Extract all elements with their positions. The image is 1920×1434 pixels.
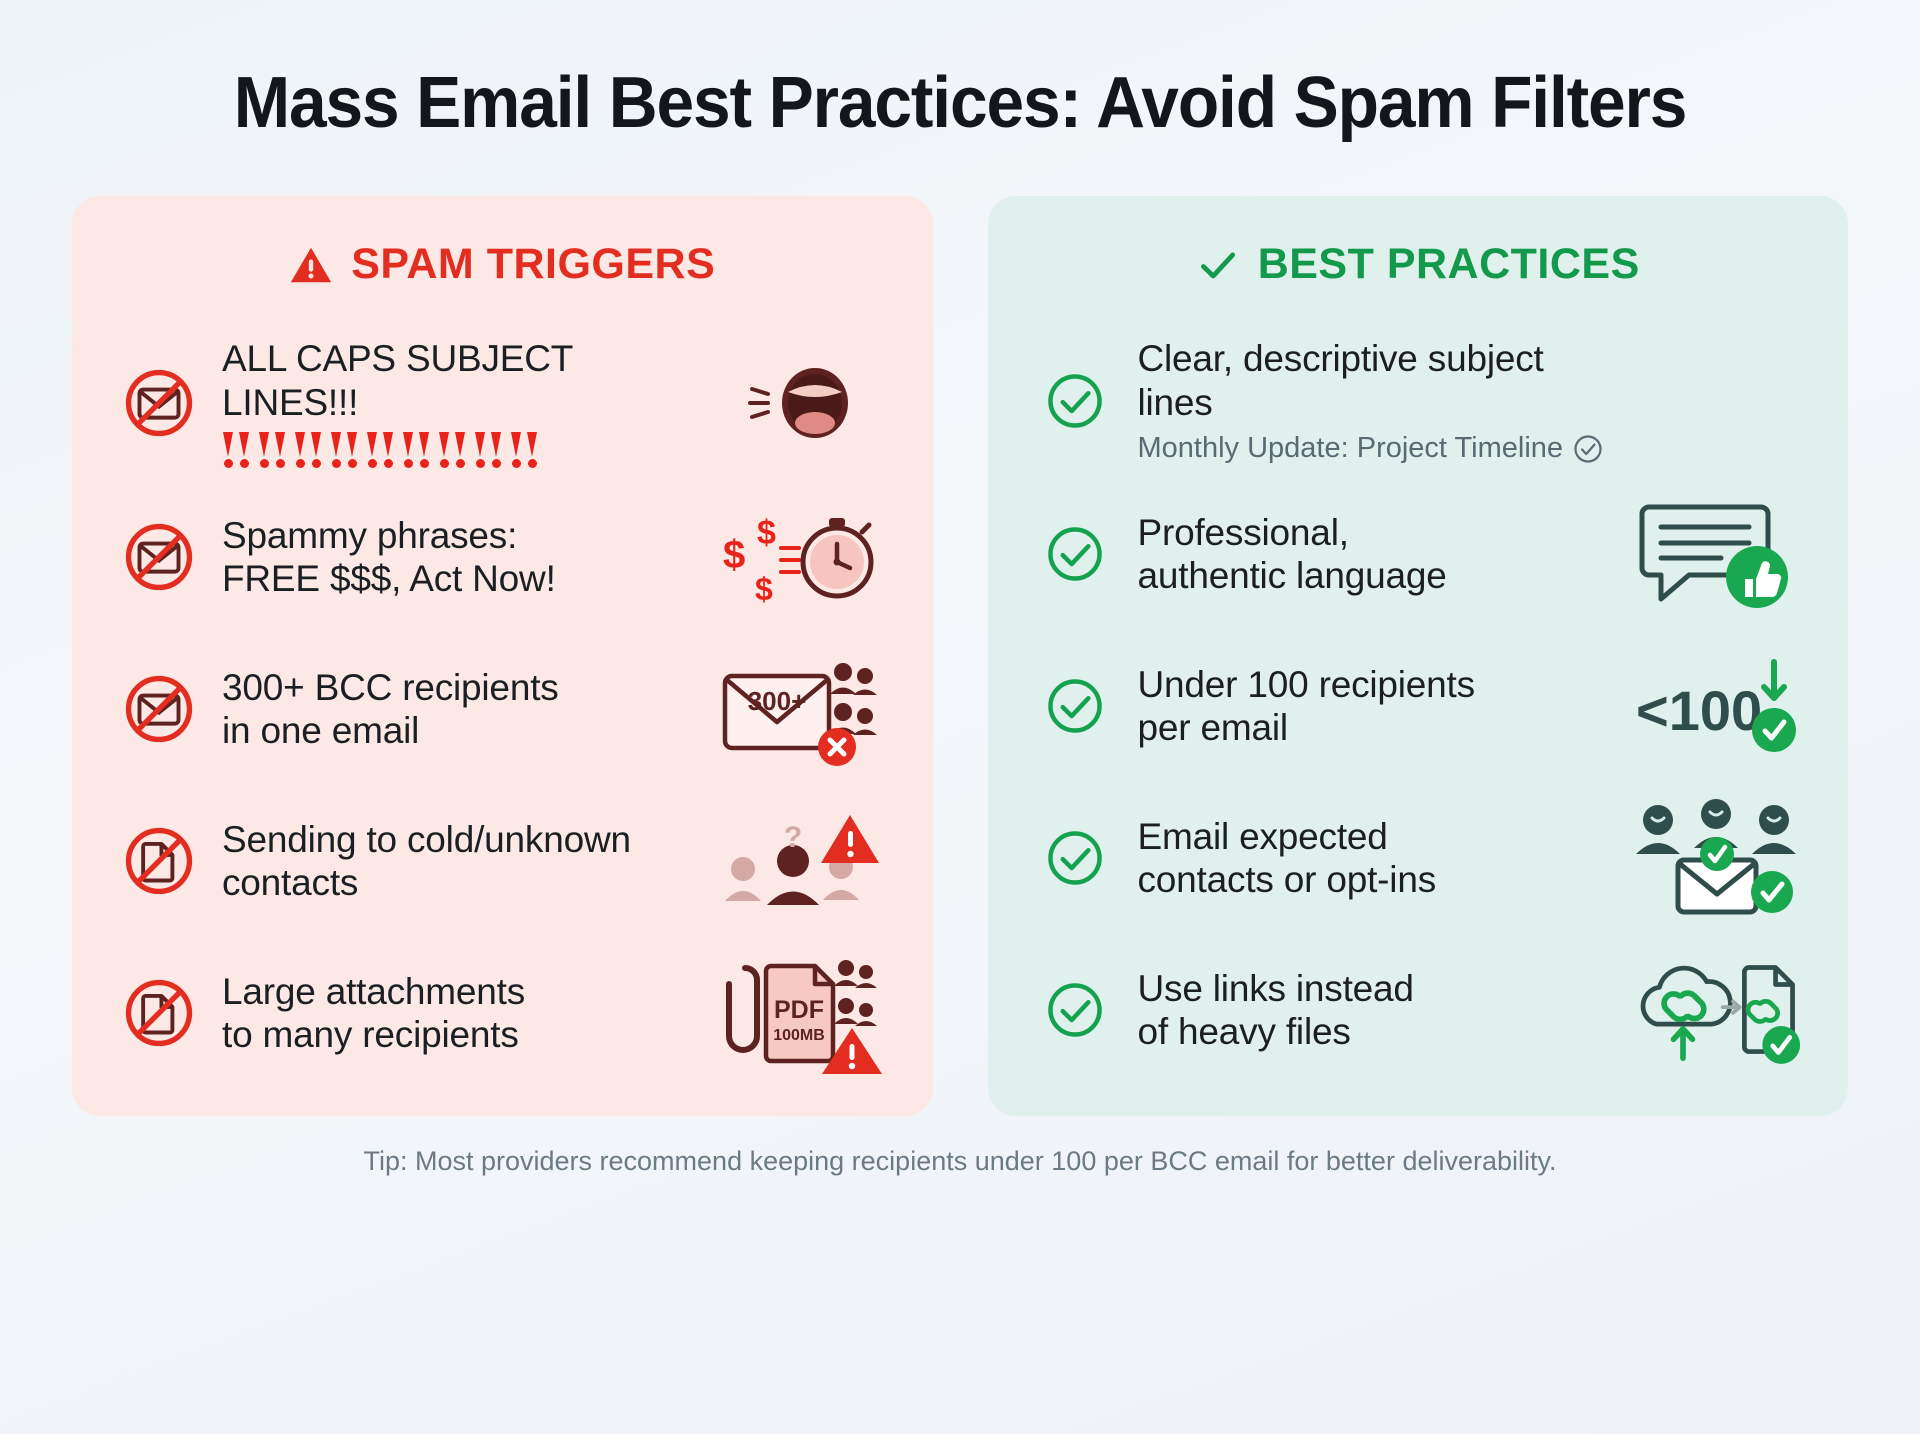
exclamation-marks-row [222, 432, 695, 468]
list-item-label: Use links instead of heavy files [1138, 967, 1611, 1054]
list-item-label: Professional, authentic language [1138, 511, 1611, 598]
paperclip-pdf-warning-icon: PDF 100MB [717, 952, 887, 1074]
list-item: ALL CAPS SUBJECT LINES!!! [118, 337, 887, 468]
check-circle-icon [1034, 981, 1116, 1039]
footer-tip: Tip: Most providers recommend keeping re… [0, 1146, 1920, 1177]
people-envelope-check-icon [1632, 798, 1802, 918]
spam-triggers-panel: SPAM TRIGGERS ALL CAPS SUBJECT LINE [72, 196, 933, 1116]
shouting-mouth-icon [717, 361, 887, 445]
best-practices-heading: BEST PRACTICES [1034, 240, 1803, 289]
spam-triggers-list: ALL CAPS SUBJECT LINES!!! [118, 337, 887, 1076]
svg-text:?: ? [784, 821, 802, 854]
chat-bubble-thumbs-up-icon [1632, 495, 1802, 613]
list-item-label: Email expected contacts or opt-ins [1138, 815, 1611, 902]
spam-triggers-heading: SPAM TRIGGERS [118, 240, 887, 289]
envelope-300plus-people-x-icon: 300+ [717, 650, 887, 768]
art-label: PDF [774, 996, 824, 1024]
best-practices-list: Clear, descriptive subject lines Monthly… [1034, 337, 1803, 1076]
list-item-label: Clear, descriptive subject lines [1138, 337, 1611, 424]
list-item: Large attachments to many recipients PDF… [118, 950, 887, 1076]
list-item: Spammy phrases: FREE $$$, Act Now! $ $ $ [118, 494, 887, 620]
list-item: Professional, authentic language [1034, 491, 1803, 617]
cloud-link-file-check-icon [1632, 951, 1802, 1069]
list-item-label: Spammy phrases: FREE $$$, Act Now! [222, 514, 695, 601]
list-item: Sending to cold/unknown contacts ? [118, 798, 887, 924]
no-document-icon [118, 974, 200, 1052]
panels-container: SPAM TRIGGERS ALL CAPS SUBJECT LINE [0, 196, 1920, 1116]
under-100-check-icon: <100 [1632, 654, 1802, 758]
list-item-label: Large attachments to many recipients [222, 970, 695, 1057]
check-circle-icon [1034, 677, 1116, 735]
svg-text:$: $ [757, 514, 776, 552]
art-label: 300+ [748, 686, 807, 716]
art-label: <100 [1636, 679, 1762, 742]
subject-example-text: Monthly Update: Project Timeline [1138, 432, 1564, 465]
art-sublabel: 100MB [773, 1027, 825, 1044]
subject-line-example: Monthly Update: Project Timeline [1138, 432, 1611, 465]
no-document-icon [118, 822, 200, 900]
page-title: Mass Email Best Practices: Avoid Spam Fi… [58, 62, 1863, 144]
svg-text:$: $ [755, 571, 773, 607]
list-item-label: ALL CAPS SUBJECT LINES!!! [222, 337, 695, 424]
spam-triggers-heading-label: SPAM TRIGGERS [351, 240, 715, 289]
no-envelope-icon [118, 364, 200, 442]
list-item: 300+ BCC recipients in one email 300+ [118, 646, 887, 772]
list-item: Clear, descriptive subject lines Monthly… [1034, 337, 1803, 465]
best-practices-panel: BEST PRACTICES Clear, descriptive subjec… [988, 196, 1849, 1116]
list-item-label: 300+ BCC recipients in one email [222, 666, 695, 753]
check-circle-icon [1034, 372, 1116, 430]
unknown-contacts-warning-icon: ? [717, 801, 887, 921]
check-circle-icon [1034, 525, 1116, 583]
dollar-signs-timer-icon: $ $ $ [717, 502, 887, 612]
list-item: Under 100 recipients per email <100 [1034, 643, 1803, 769]
warning-triangle-icon [289, 243, 333, 287]
no-envelope-icon [118, 518, 200, 596]
svg-text:$: $ [723, 533, 745, 577]
list-item: Use links instead of heavy files [1034, 947, 1803, 1073]
check-circle-icon [1034, 829, 1116, 887]
infographic-page: Mass Email Best Practices: Avoid Spam Fi… [0, 0, 1920, 1434]
check-icon [1196, 243, 1240, 287]
check-circle-icon [1573, 434, 1603, 464]
list-item: Email expected contacts or opt-ins [1034, 795, 1803, 921]
best-practices-heading-label: BEST PRACTICES [1258, 240, 1640, 289]
list-item-label: Under 100 recipients per email [1138, 663, 1611, 750]
no-envelope-icon [118, 670, 200, 748]
list-item-label: Sending to cold/unknown contacts [222, 818, 695, 905]
